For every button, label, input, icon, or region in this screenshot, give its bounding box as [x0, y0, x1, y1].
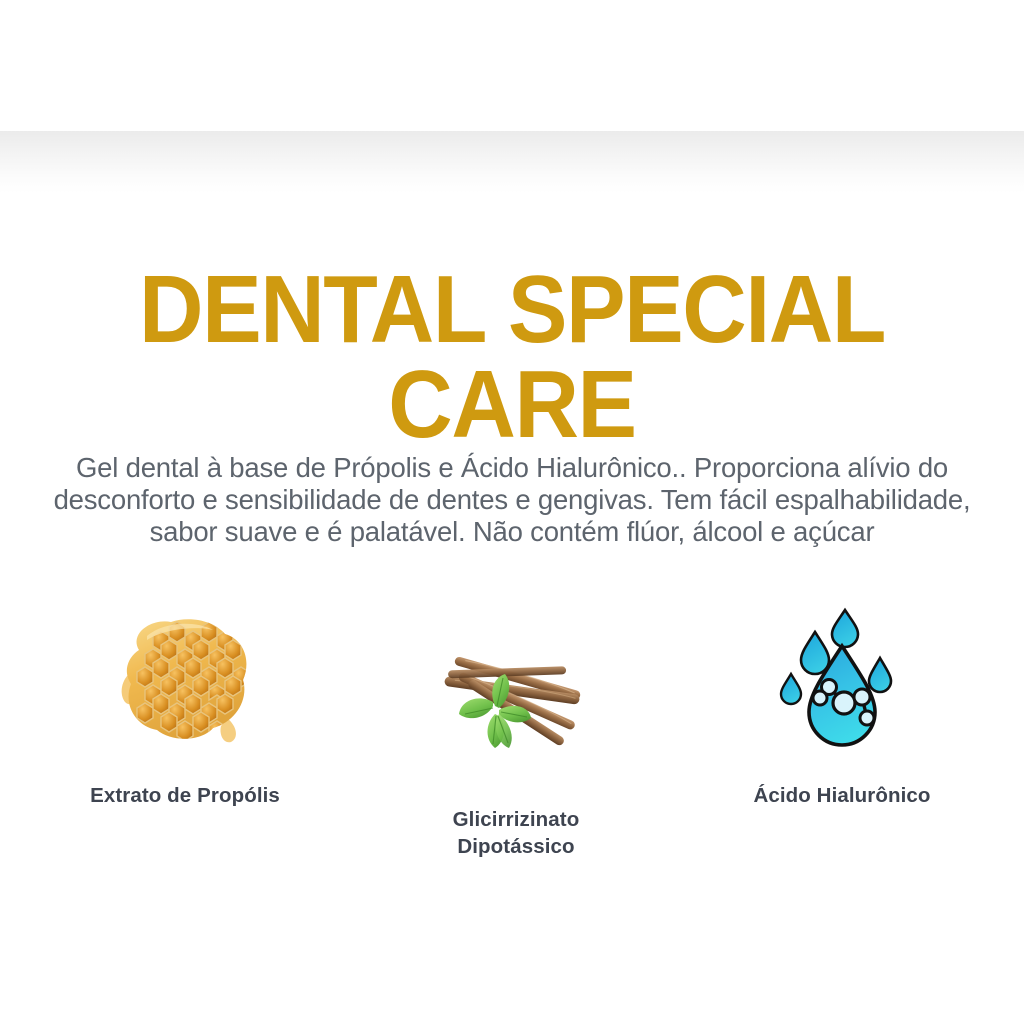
- droplet-right: [869, 658, 891, 692]
- honeycomb-propolis-icon: [109, 610, 261, 750]
- ingredient-item-licorice: Glicirrizinato Dipotássico: [366, 600, 666, 860]
- ingredient-label-licorice: Glicirrizinato Dipotássico: [453, 806, 580, 860]
- product-infographic-page: DENTAL SPECIAL CARE Gel dental à base de…: [0, 0, 1024, 1024]
- page-title: DENTAL SPECIAL CARE: [36, 262, 988, 452]
- droplet-top: [832, 610, 858, 647]
- ingredient-label-propolis: Extrato de Propólis: [90, 782, 280, 809]
- licorice-sticks-mint-icon: [441, 648, 591, 760]
- section-divider-gradient: [0, 131, 1024, 193]
- ingredients-row: Extrato de Propólis: [30, 600, 994, 860]
- icon-slot-propolis: [100, 600, 270, 760]
- ingredient-label-hyaluronic: Ácido Hialurônico: [753, 782, 930, 809]
- droplet-upper-left: [801, 632, 829, 674]
- product-description: Gel dental à base de Própolis e Ácido Hi…: [24, 452, 1000, 549]
- licorice-sticks: [444, 656, 581, 747]
- droplet-left: [781, 674, 801, 704]
- ingredient-item-propolis: Extrato de Propólis: [35, 600, 335, 809]
- icon-slot-licorice: [431, 600, 601, 784]
- ingredient-item-hyaluronic: Ácido Hialurônico: [692, 600, 992, 809]
- water-drop-molecule-icon: [779, 602, 905, 758]
- icon-slot-hyaluronic: [757, 600, 927, 760]
- top-white-band: [0, 0, 1024, 131]
